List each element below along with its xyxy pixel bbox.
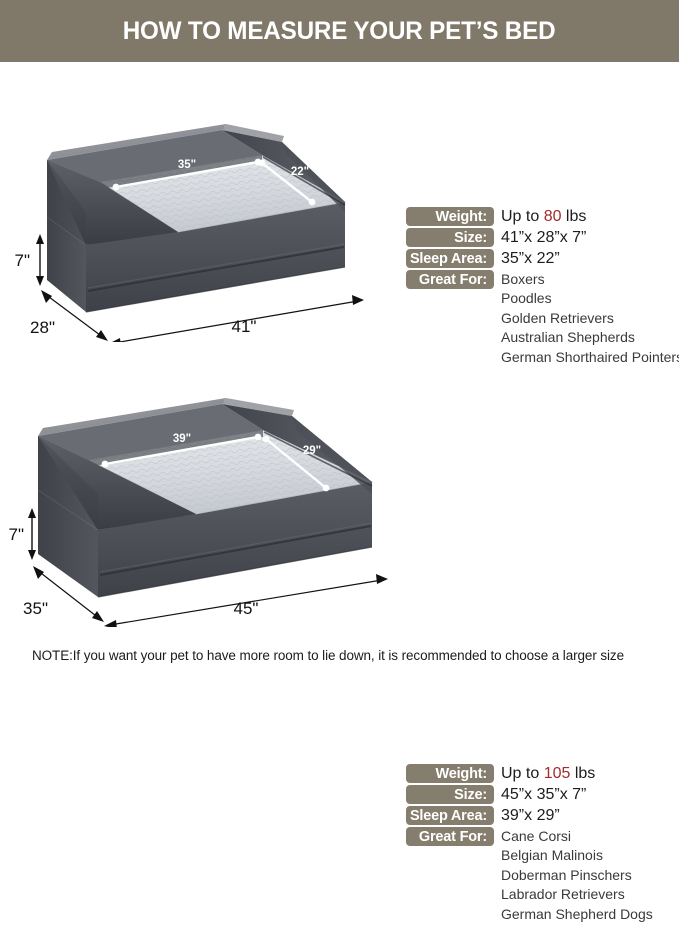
header-bar: HOW TO MEASURE YOUR PET’S BED bbox=[0, 0, 679, 62]
list-item: Doberman Pinschers bbox=[501, 866, 653, 886]
dimension-inner-depth-xlarge-label: 29" bbox=[303, 445, 321, 457]
weight-suffix: lbs bbox=[561, 208, 586, 225]
weight-number: 105 bbox=[544, 765, 571, 782]
spec-row-sleep-area: Sleep Area: 35”x 22” bbox=[406, 249, 679, 268]
list-item: Golden Retrievers bbox=[501, 309, 679, 329]
weight-number: 80 bbox=[544, 208, 562, 225]
page-title: HOW TO MEASURE YOUR PET’S BED bbox=[123, 17, 556, 46]
spec-label-size: Size: bbox=[406, 785, 494, 804]
dimension-height-xlarge: 7" bbox=[9, 508, 37, 560]
spec-row-size: Size: 41”x 28”x 7” bbox=[406, 228, 679, 247]
dimension-height-large-label: 7" bbox=[15, 251, 31, 270]
dimension-inner-depth-large-label: 22" bbox=[291, 166, 309, 178]
spec-row-weight: Weight: Up to 105 lbs bbox=[406, 764, 679, 783]
spec-row-weight: Weight: Up to 80 lbs bbox=[406, 207, 679, 226]
weight-prefix: Up to bbox=[501, 765, 544, 782]
spec-label-great-for: Great For: bbox=[406, 827, 494, 846]
list-item: Labrador Retrievers bbox=[501, 885, 653, 905]
dimension-inner-width-large-label: 35" bbox=[178, 159, 196, 171]
spec-panel-xlarge: Weight: Up to 105 lbs Size: 45”x 35”x 7”… bbox=[406, 764, 679, 926]
dimension-width-large-label: 41" bbox=[232, 317, 257, 336]
dimension-inner-width-xlarge-label: 39" bbox=[173, 433, 191, 445]
list-item: Cane Corsi bbox=[501, 827, 653, 846]
dimension-width-xlarge-label: 45" bbox=[234, 599, 259, 618]
weight-suffix: lbs bbox=[570, 765, 595, 782]
note-text: NOTE:If you want your pet to have more r… bbox=[32, 648, 624, 663]
breed-list-xlarge: Cane Corsi Belgian Malinois Doberman Pin… bbox=[494, 827, 653, 924]
dimension-depth-xlarge-label: 35" bbox=[23, 599, 48, 618]
spec-label-great-for: Great For: bbox=[406, 270, 494, 289]
dimension-height-large: 7" bbox=[15, 234, 45, 286]
spec-value-weight: Up to 105 lbs bbox=[494, 764, 595, 783]
list-item: Boxers bbox=[501, 270, 679, 289]
dimension-height-xlarge-label: 7" bbox=[9, 525, 25, 544]
spec-value-size: 41”x 28”x 7” bbox=[494, 228, 586, 247]
bed-section-large: 35" 22" 7" 28" bbox=[0, 62, 679, 342]
spec-value-sleep-area: 39”x 29” bbox=[494, 806, 560, 825]
spec-value-sleep-area: 35”x 22” bbox=[494, 249, 560, 268]
weight-prefix: Up to bbox=[501, 208, 544, 225]
spec-row-great-for: Great For: Cane Corsi Belgian Malinois D… bbox=[406, 827, 679, 924]
list-item: Poodles bbox=[501, 289, 679, 309]
spec-label-size: Size: bbox=[406, 228, 494, 247]
bed-illustration-xlarge: 39" 29" 7" 35" bbox=[0, 342, 400, 627]
spec-value-size: 45”x 35”x 7” bbox=[494, 785, 586, 804]
spec-row-size: Size: 45”x 35”x 7” bbox=[406, 785, 679, 804]
spec-label-weight: Weight: bbox=[406, 764, 494, 783]
bed-section-xlarge: 39" 29" 7" 35" bbox=[0, 342, 679, 627]
list-item: Belgian Malinois bbox=[501, 846, 653, 866]
spec-value-weight: Up to 80 lbs bbox=[494, 207, 586, 226]
dimension-depth-large-label: 28" bbox=[30, 318, 55, 337]
spec-label-sleep-area: Sleep Area: bbox=[406, 806, 494, 825]
spec-label-sleep-area: Sleep Area: bbox=[406, 249, 494, 268]
spec-row-sleep-area: Sleep Area: 39”x 29” bbox=[406, 806, 679, 825]
list-item: German Shepherd Dogs bbox=[501, 905, 653, 925]
bed-illustration-large: 35" 22" 7" 28" bbox=[0, 62, 400, 342]
spec-label-weight: Weight: bbox=[406, 207, 494, 226]
